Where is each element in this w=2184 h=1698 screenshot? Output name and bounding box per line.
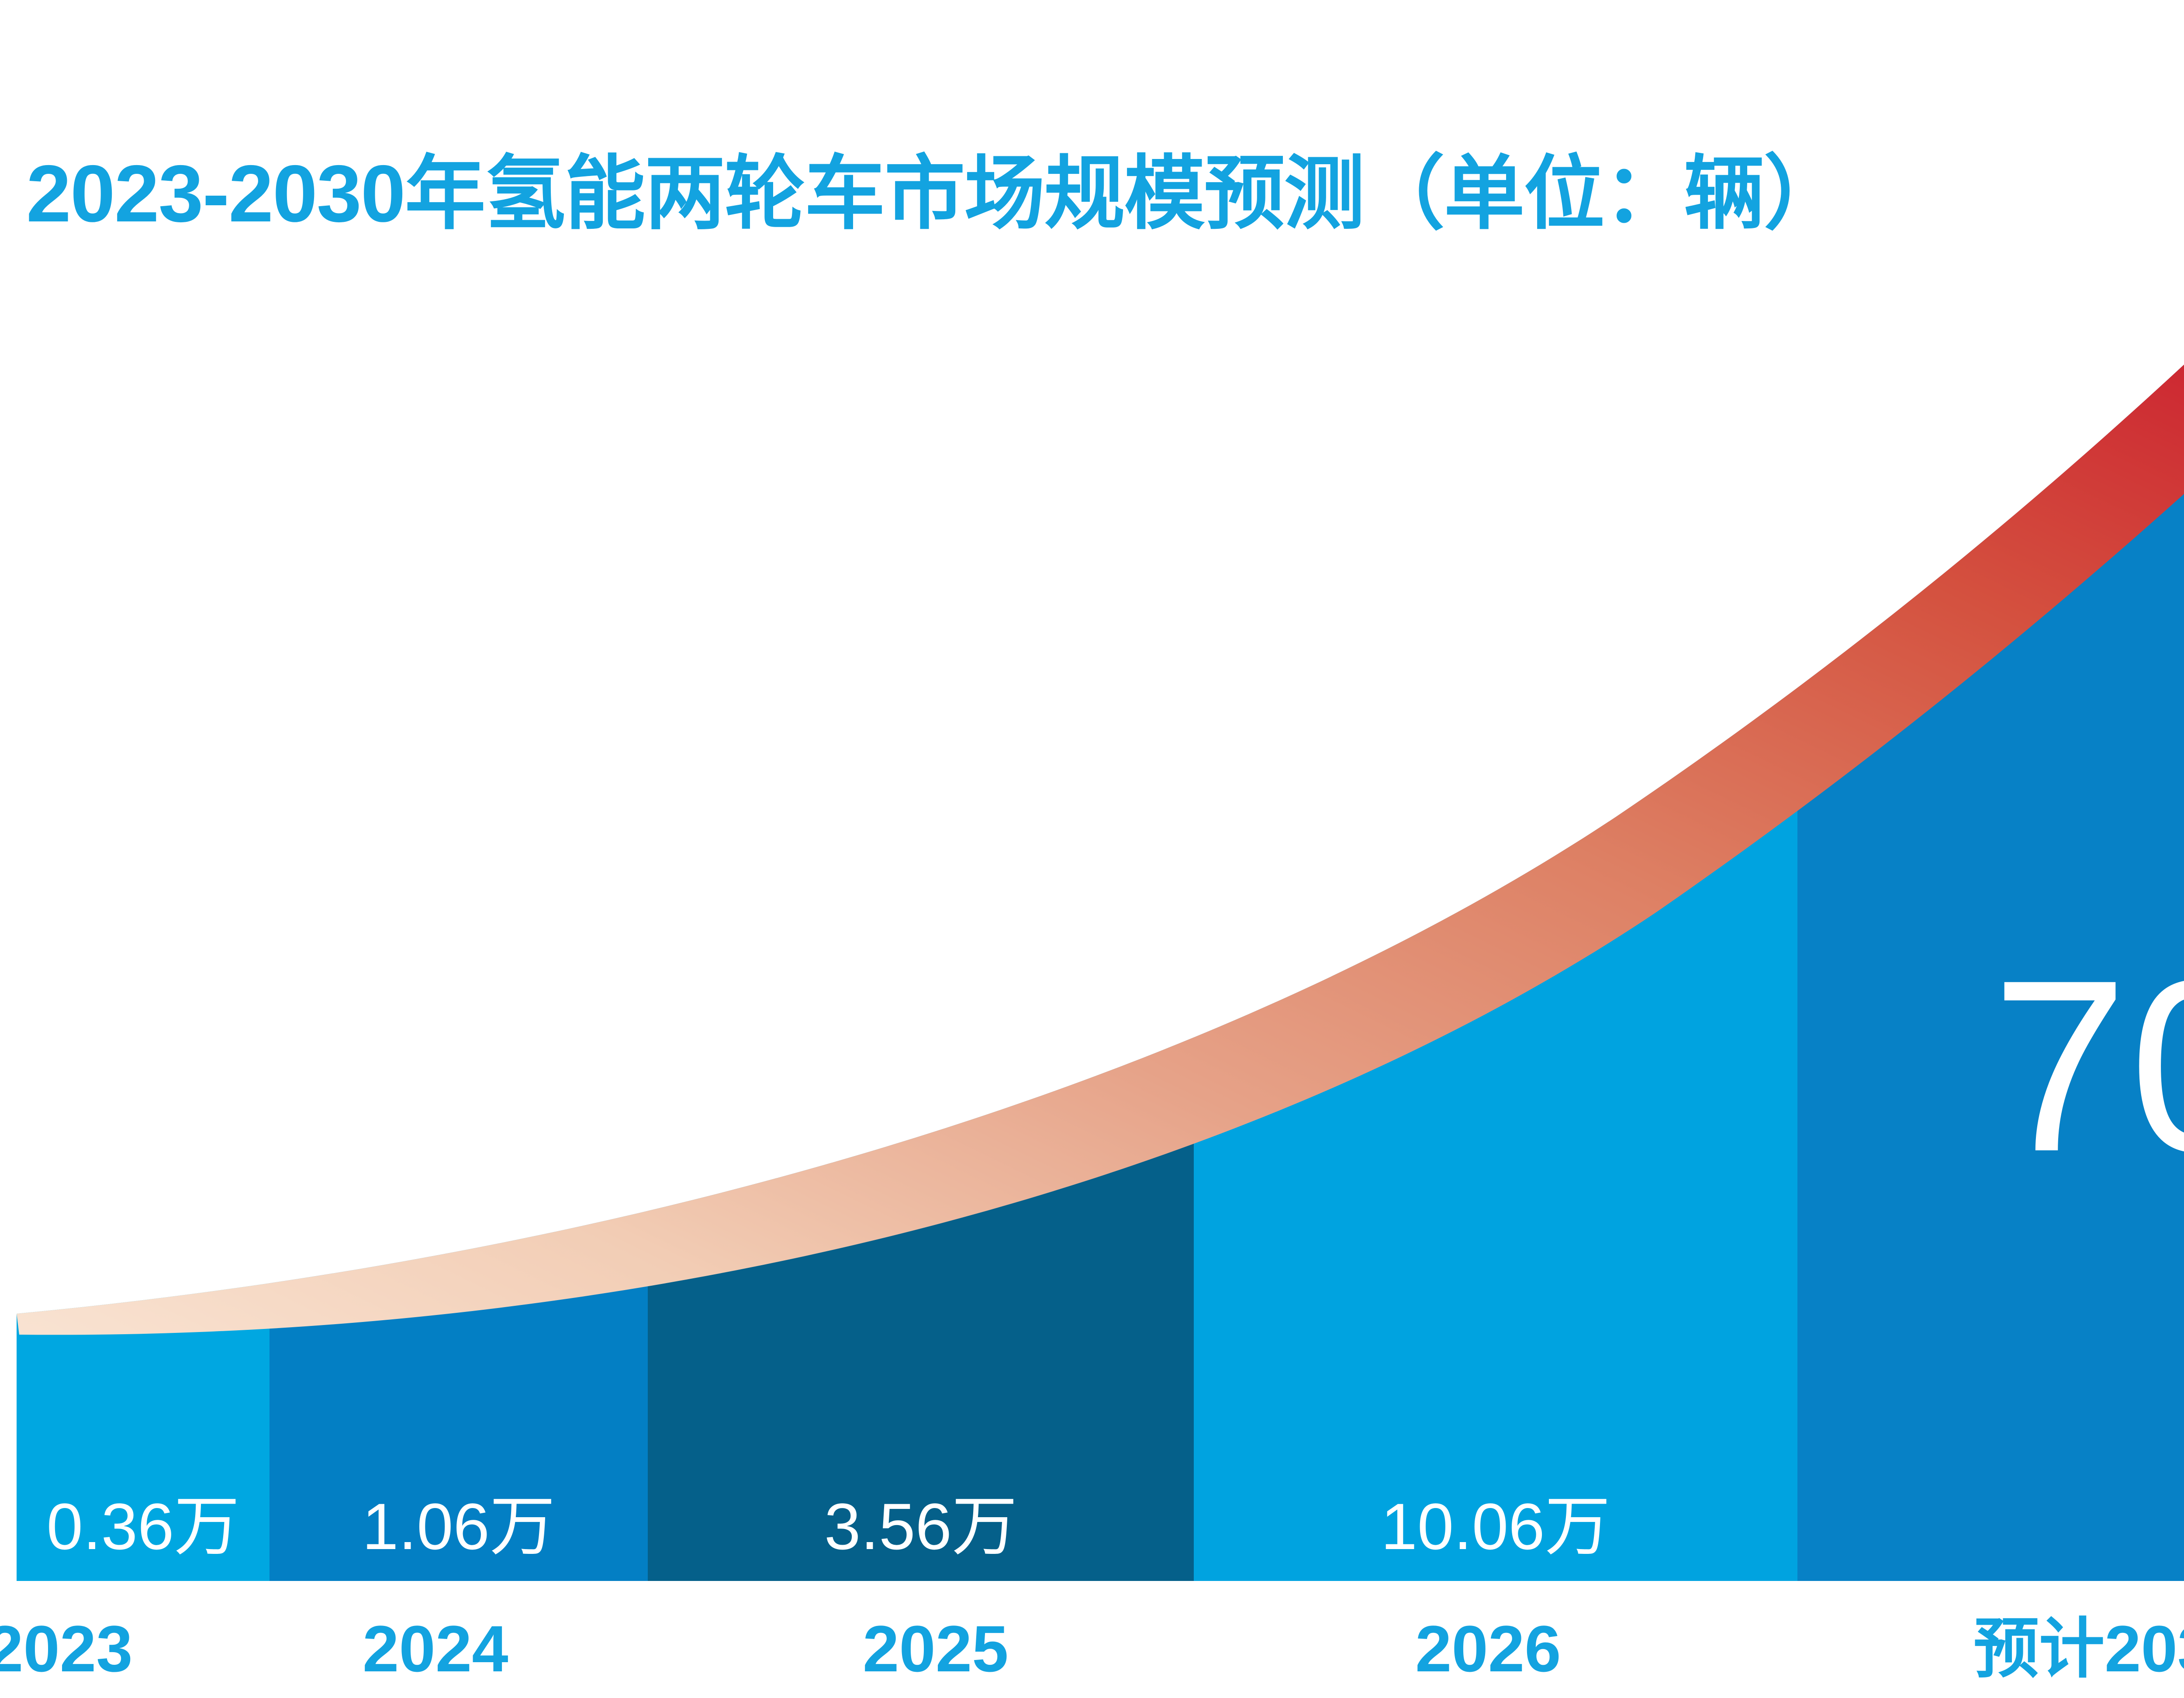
- bar-2023[interactable]: [17, 87, 270, 1581]
- axis-label-2023: 2023: [0, 1616, 96, 1681]
- bar-2025[interactable]: [648, 87, 1194, 1581]
- axis-label-2024: 2024: [363, 1616, 472, 1681]
- bar-value-2026: 10.06万: [1194, 1494, 1797, 1559]
- bar-value-2023: 0.36万: [17, 1494, 270, 1559]
- bar-group: [17, 87, 2184, 1581]
- axis-label-2025: 2025: [863, 1616, 972, 1681]
- bar-2024[interactable]: [270, 87, 648, 1581]
- axis-label-2030: 预计2030年增长: [1966, 1616, 2184, 1681]
- axis-label-2026: 2026: [1415, 1616, 1524, 1681]
- chart-plot-area: [0, 0, 2184, 1698]
- bar-value-2030: 70万: [1992, 943, 2184, 1188]
- bar-value-2025: 3.56万: [648, 1494, 1194, 1559]
- chart-canvas: 2023-2030年氢能两轮车市场规模预测（单位：辆）: [0, 0, 2184, 1698]
- bar-2030[interactable]: [1797, 87, 2184, 1581]
- bar-value-2024: 1.06万: [270, 1494, 648, 1559]
